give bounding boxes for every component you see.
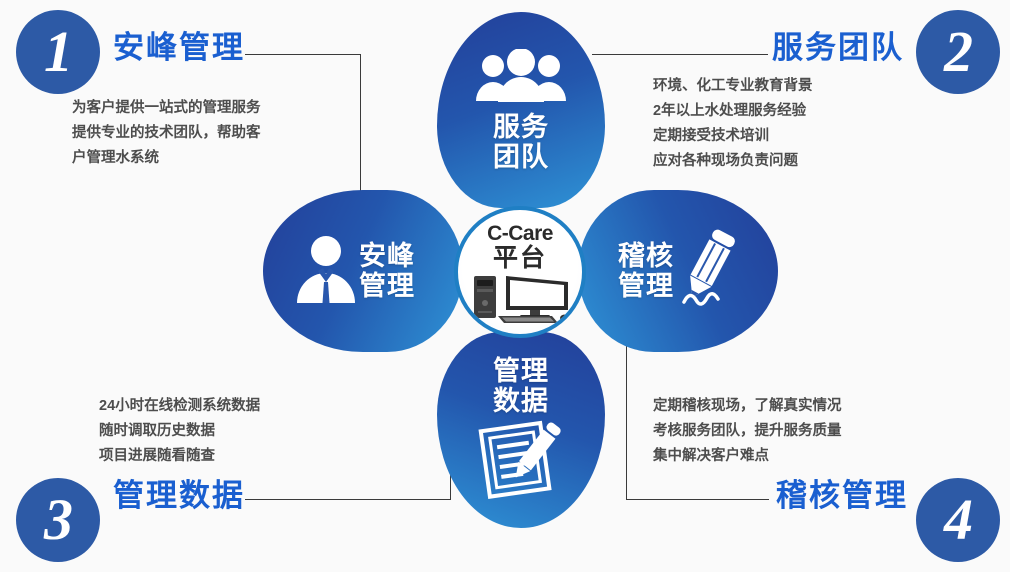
body-line: 应对各种现场负责问题 bbox=[653, 149, 813, 174]
quadrant-body-1: 为客户提供一站式的管理服务 提供专业的技术团队，帮助客 户管理水系统 bbox=[72, 96, 261, 171]
people-group-icon bbox=[475, 49, 567, 108]
quadrant-title-3: 管理数据 bbox=[113, 470, 245, 515]
badge-number-1: 1 bbox=[16, 10, 100, 94]
petal-management-data[interactable]: 管理 数据 bbox=[437, 332, 605, 528]
petal-anfeng-management[interactable]: 安峰 管理 bbox=[263, 190, 463, 352]
quadrant-body-3: 24小时在线检测系统数据 随时调取历史数据 项目进展随看随查 bbox=[99, 394, 260, 469]
body-line: 定期稽核现场，了解真实情况 bbox=[653, 394, 842, 419]
quadrant-title-2: 服务团队 bbox=[772, 22, 904, 67]
badge-number-3: 3 bbox=[16, 478, 100, 562]
badge-number-2: 2 bbox=[916, 10, 1000, 94]
body-line: 提供专业的技术团队，帮助客 bbox=[72, 121, 261, 146]
quadrant-body-2: 环境、化工专业教育背景 2年以上水处理服务经验 定期接受技术培训 应对各种现场负… bbox=[653, 74, 813, 174]
connector-line-1-horizontal bbox=[245, 54, 361, 55]
petal-label-anfeng-management: 安峰 管理 bbox=[359, 241, 415, 301]
body-line: 集中解决客户难点 bbox=[653, 444, 842, 469]
connector-line-2-horizontal bbox=[592, 54, 768, 55]
pencil-signature-icon bbox=[674, 226, 748, 317]
hub-title-chinese: 平台 bbox=[493, 245, 547, 271]
body-line: 定期接受技术培训 bbox=[653, 124, 813, 149]
petal-label-audit-management: 稽核 管理 bbox=[618, 241, 674, 301]
hub-title-english: C-Care bbox=[487, 223, 553, 245]
quadrant-title-4: 稽核管理 bbox=[776, 470, 908, 515]
badge-number-4: 4 bbox=[916, 478, 1000, 562]
desktop-computer-icon bbox=[468, 272, 572, 329]
petal-label-management-data: 管理 数据 bbox=[493, 356, 549, 416]
body-line: 随时调取历史数据 bbox=[99, 419, 260, 444]
infographic-canvas: 1 2 3 4 安峰管理 服务团队 管理数据 稽核管理 为客户提供一站式的管理服… bbox=[0, 0, 1010, 572]
body-line: 户管理水系统 bbox=[72, 146, 261, 171]
petal-service-team[interactable]: 服务 团队 bbox=[437, 12, 605, 208]
body-line: 项目进展随看随查 bbox=[99, 444, 260, 469]
body-line: 24小时在线检测系统数据 bbox=[99, 394, 260, 419]
petal-label-service-team: 服务 团队 bbox=[493, 112, 549, 172]
connector-line-4-vertical bbox=[626, 345, 627, 500]
body-line: 环境、化工专业教育背景 bbox=[653, 74, 813, 99]
clipboard-pen-icon bbox=[473, 418, 569, 505]
businessman-icon bbox=[293, 233, 359, 310]
petal-audit-management[interactable]: 稽核 管理 bbox=[578, 190, 778, 352]
quadrant-body-4: 定期稽核现场，了解真实情况 考核服务团队，提升服务质量 集中解决客户难点 bbox=[653, 394, 842, 469]
connector-line-4-horizontal bbox=[626, 499, 769, 500]
center-hub-ccare-platform[interactable]: C-Care 平台 bbox=[454, 206, 586, 338]
connector-line-3-horizontal bbox=[245, 499, 451, 500]
body-line: 考核服务团队，提升服务质量 bbox=[653, 419, 842, 444]
body-line: 2年以上水处理服务经验 bbox=[653, 99, 813, 124]
quadrant-title-1: 安峰管理 bbox=[113, 22, 245, 67]
body-line: 为客户提供一站式的管理服务 bbox=[72, 96, 261, 121]
connector-line-1-vertical bbox=[360, 54, 361, 192]
